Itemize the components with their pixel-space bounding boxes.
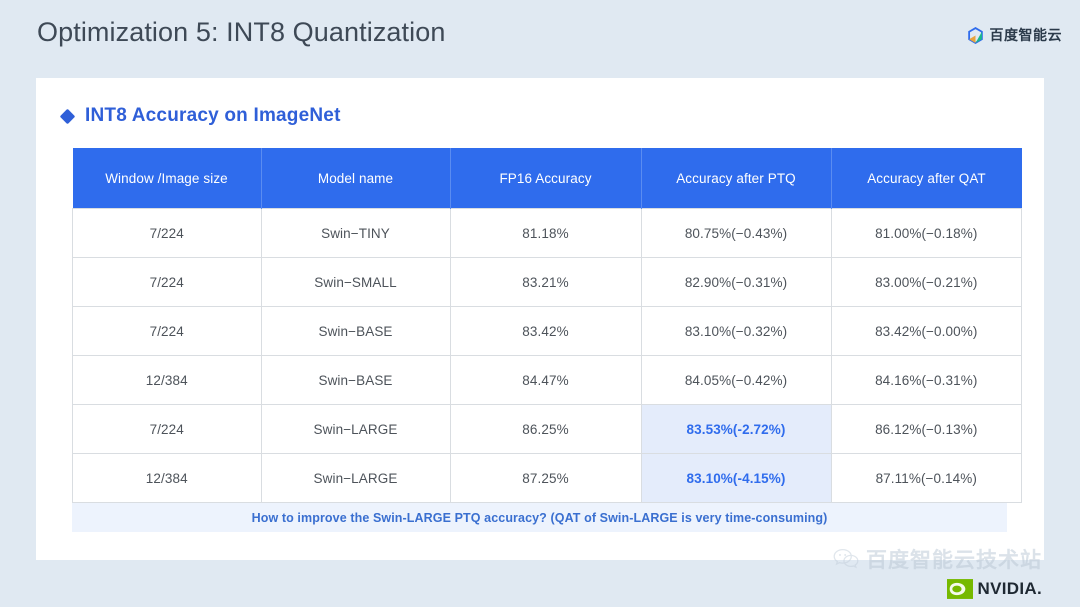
table-row: 12/384 Swin−LARGE 87.25% 83.10%(-4.15%) … xyxy=(73,454,1022,503)
cell-window-image-size: 7/224 xyxy=(73,258,262,307)
cell-fp16-accuracy: 83.42% xyxy=(450,307,641,356)
cell-accuracy-after-ptq-highlighted: 83.53%(-2.72%) xyxy=(641,405,831,454)
table-row: 7/224 Swin−TINY 81.18% 80.75%(−0.43%) 81… xyxy=(73,209,1022,258)
column-header-window-image-size: Window /Image size xyxy=(73,148,262,209)
cell-model-name: Swin−LARGE xyxy=(261,454,450,503)
cell-fp16-accuracy: 84.47% xyxy=(450,356,641,405)
table-row: 7/224 Swin−LARGE 86.25% 83.53%(-2.72%) 8… xyxy=(73,405,1022,454)
cell-accuracy-after-qat: 81.00%(−0.18%) xyxy=(831,209,1022,258)
wechat-watermark: 百度智能云技术站 xyxy=(833,544,1042,574)
cell-window-image-size: 12/384 xyxy=(73,356,262,405)
cell-accuracy-after-qat: 83.00%(−0.21%) xyxy=(831,258,1022,307)
baidu-cloud-logo-icon xyxy=(967,27,984,44)
cell-fp16-accuracy: 81.18% xyxy=(450,209,641,258)
column-header-model-name: Model name xyxy=(261,148,450,209)
table-row: 12/384 Swin−BASE 84.47% 84.05%(−0.42%) 8… xyxy=(73,356,1022,405)
cell-model-name: Swin−TINY xyxy=(261,209,450,258)
cell-accuracy-after-qat: 83.42%(−0.00%) xyxy=(831,307,1022,356)
cell-accuracy-after-ptq: 84.05%(−0.42%) xyxy=(641,356,831,405)
cell-model-name: Swin−SMALL xyxy=(261,258,450,307)
cell-accuracy-after-ptq: 80.75%(−0.43%) xyxy=(641,209,831,258)
cell-model-name: Swin−BASE xyxy=(261,307,450,356)
cell-accuracy-after-qat: 86.12%(−0.13%) xyxy=(831,405,1022,454)
cell-model-name: Swin−LARGE xyxy=(261,405,450,454)
table-row: 7/224 Swin−BASE 83.42% 83.10%(−0.32%) 83… xyxy=(73,307,1022,356)
cell-accuracy-after-ptq: 83.10%(−0.32%) xyxy=(641,307,831,356)
column-header-accuracy-after-ptq: Accuracy after PTQ xyxy=(641,148,831,209)
cell-accuracy-after-qat: 87.11%(−0.14%) xyxy=(831,454,1022,503)
cell-accuracy-after-ptq-highlighted: 83.10%(-4.15%) xyxy=(641,454,831,503)
cell-model-name: Swin−BASE xyxy=(261,356,450,405)
section-heading-label: INT8 Accuracy on ImageNet xyxy=(85,105,341,127)
nvidia-eye-icon xyxy=(947,579,973,599)
cell-window-image-size: 7/224 xyxy=(73,307,262,356)
cell-accuracy-after-ptq: 82.90%(−0.31%) xyxy=(641,258,831,307)
cell-window-image-size: 7/224 xyxy=(73,405,262,454)
column-header-fp16-accuracy: FP16 Accuracy xyxy=(450,148,641,209)
footer-note-text: How to improve the Swin-LARGE PTQ accura… xyxy=(252,511,828,525)
cell-fp16-accuracy: 86.25% xyxy=(450,405,641,454)
nvidia-brand: NVIDIA. xyxy=(947,579,1042,599)
baidu-cloud-brand: 百度智能云 xyxy=(967,25,1063,45)
content-card: INT8 Accuracy on ImageNet Window /Image … xyxy=(36,78,1044,560)
table-row: 7/224 Swin−SMALL 83.21% 82.90%(−0.31%) 8… xyxy=(73,258,1022,307)
baidu-cloud-logo-text: 百度智能云 xyxy=(990,25,1063,45)
footer-note-band: How to improve the Swin-LARGE PTQ accura… xyxy=(72,503,1007,532)
nvidia-logo-text: NVIDIA. xyxy=(978,579,1042,599)
cell-fp16-accuracy: 87.25% xyxy=(450,454,641,503)
cell-window-image-size: 7/224 xyxy=(73,209,262,258)
diamond-bullet-icon xyxy=(60,108,76,124)
cell-accuracy-after-qat: 84.16%(−0.31%) xyxy=(831,356,1022,405)
section-heading: INT8 Accuracy on ImageNet xyxy=(62,105,341,127)
table-header-row: Window /Image size Model name FP16 Accur… xyxy=(73,148,1022,209)
wechat-icon xyxy=(833,548,859,570)
wechat-watermark-text: 百度智能云技术站 xyxy=(866,544,1042,574)
cell-window-image-size: 12/384 xyxy=(73,454,262,503)
int8-accuracy-table: Window /Image size Model name FP16 Accur… xyxy=(72,148,1022,503)
page-title: Optimization 5: INT8 Quantization xyxy=(37,17,445,48)
cell-fp16-accuracy: 83.21% xyxy=(450,258,641,307)
column-header-accuracy-after-qat: Accuracy after QAT xyxy=(831,148,1022,209)
